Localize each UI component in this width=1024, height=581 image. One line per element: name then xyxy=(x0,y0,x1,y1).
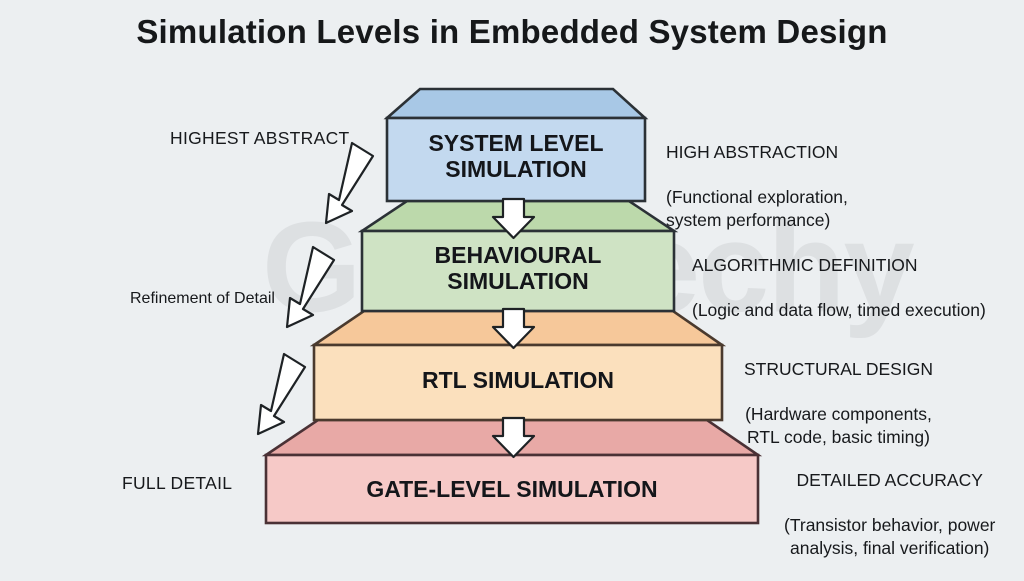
tier-body-system-level xyxy=(387,118,645,201)
diagonal-arrow-3 xyxy=(258,354,305,434)
tier-body-rtl xyxy=(314,345,722,420)
side-note-gate-level: DETAILED ACCURACY (Transistor behavior, … xyxy=(784,447,995,581)
side-note-detail-gate-level: (Transistor behavior, power analysis, fi… xyxy=(784,514,995,559)
tier-shape-system-level xyxy=(387,89,645,201)
tier-top-face-system-level xyxy=(387,89,645,118)
side-note-heading-gate-level: DETAILED ACCURACY xyxy=(784,469,995,491)
side-note-detail-behavioural: (Logic and data flow, timed execution) xyxy=(692,299,986,321)
side-note-detail-rtl: (Hardware components, RTL code, basic ti… xyxy=(744,403,933,448)
diagonal-arrow-2 xyxy=(287,247,334,327)
diagonal-arrow-1 xyxy=(326,143,373,223)
side-note-heading-rtl: STRUCTURAL DESIGN xyxy=(744,358,933,380)
tier-body-behavioural xyxy=(362,231,674,311)
side-note-behavioural: ALGORITHMIC DEFINITION (Logic and data f… xyxy=(692,232,986,344)
diagram-canvas: GenXtechy Simulation Levels in Embedded … xyxy=(0,0,1024,552)
left-label-full-detail: FULL DETAIL xyxy=(122,473,232,494)
left-label-refinement-of-detail: Refinement of Detail xyxy=(130,290,275,308)
side-note-detail-system-level: (Functional exploration, system performa… xyxy=(666,186,848,231)
side-note-heading-system-level: HIGH ABSTRACTION xyxy=(666,141,848,163)
left-label-highest-abstract: HIGHEST ABSTRACT xyxy=(170,128,350,149)
side-note-heading-behavioural: ALGORITHMIC DEFINITION xyxy=(692,254,986,276)
tier-body-gate-level xyxy=(266,455,758,523)
